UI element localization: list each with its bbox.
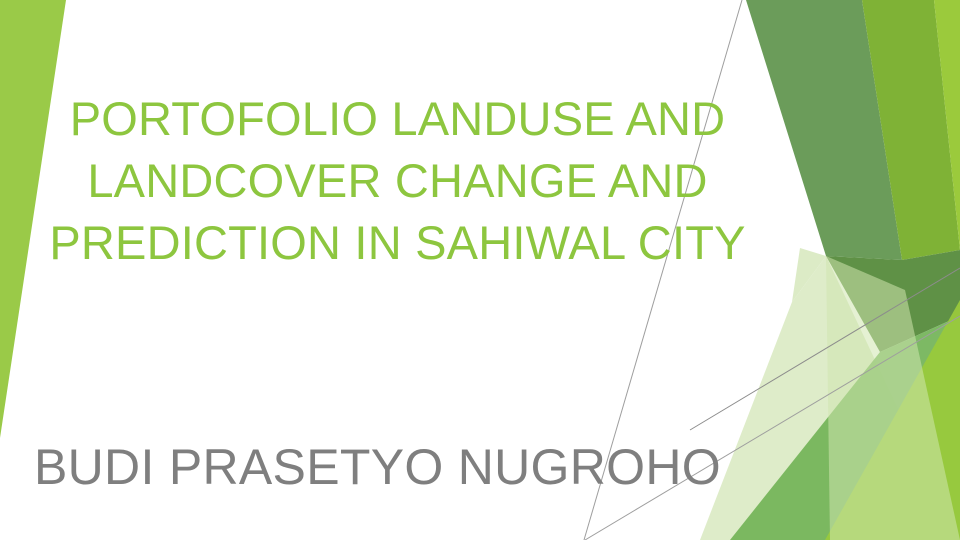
- slide-subtitle-text: BUDI PRASETYO NUGROHO: [34, 434, 734, 500]
- presentation-slide: PORTOFOLIO LANDUSE AND LANDCOVER CHANGE …: [0, 0, 960, 540]
- slide-title-line-3: PREDICTION IN SAHIWAL CITY: [40, 212, 755, 274]
- slide-subtitle[interactable]: BUDI PRASETYO NUGROHO: [34, 434, 734, 500]
- slide-title-line-1: PORTOFOLIO LANDUSE AND: [40, 88, 755, 150]
- slide-text-layer: PORTOFOLIO LANDUSE AND LANDCOVER CHANGE …: [0, 0, 960, 540]
- slide-title[interactable]: PORTOFOLIO LANDUSE AND LANDCOVER CHANGE …: [40, 88, 755, 274]
- slide-title-line-2: LANDCOVER CHANGE AND: [40, 150, 755, 212]
